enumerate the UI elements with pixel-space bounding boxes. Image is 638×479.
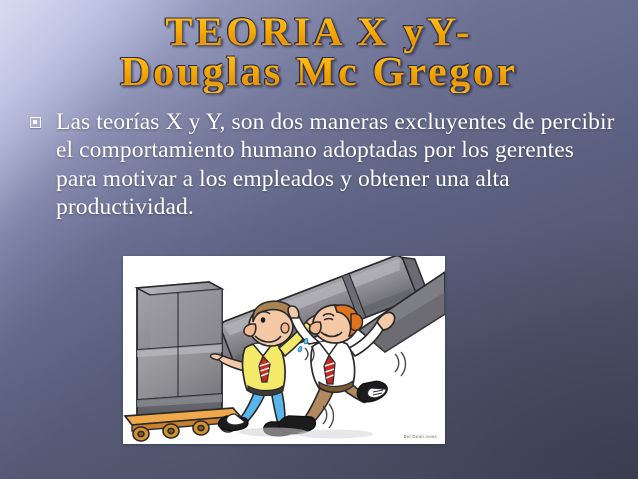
- title-line-2: Douglas Mc Gregor: [0, 51, 638, 93]
- cartoon-illustration: [123, 256, 445, 444]
- slide-title: TEORIA X yY- Douglas Mc Gregor: [0, 12, 638, 93]
- slide-canvas: TEORIA X yY- Douglas Mc Gregor Las teorí…: [0, 0, 638, 479]
- body-content-placeholder: Las teorías X y Y, son dos maneras exclu…: [30, 108, 616, 222]
- slide-picture: Bel.Dean.news: [123, 256, 445, 444]
- picture-credit: Bel.Dean.news: [404, 434, 437, 439]
- title-line-1: TEORIA X yY-: [0, 12, 638, 53]
- body-paragraph: Las teorías X y Y, son dos maneras exclu…: [48, 108, 616, 222]
- square-bullet-icon: [30, 117, 48, 128]
